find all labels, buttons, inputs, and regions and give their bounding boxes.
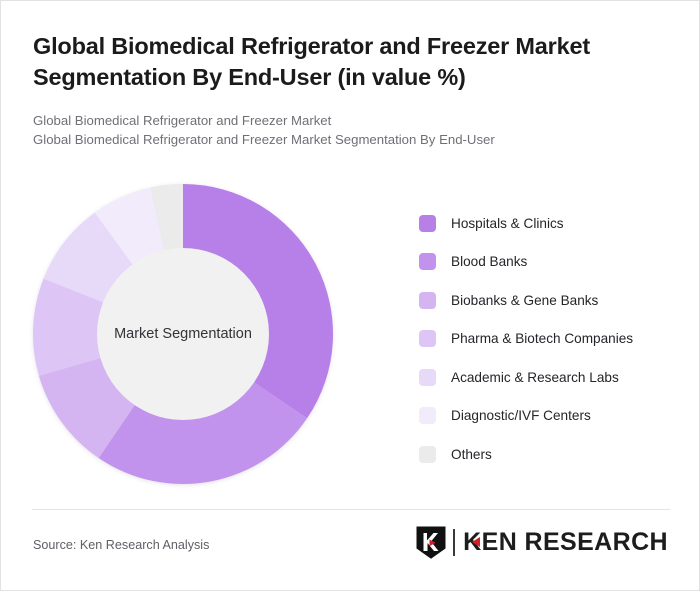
source-note: Source: Ken Research Analysis xyxy=(33,538,209,552)
chart-card: Global Biomedical Refrigerator and Freez… xyxy=(0,0,700,591)
legend-color-swatch xyxy=(419,215,436,232)
brand-wordmark: K EN RESEARCH xyxy=(463,528,668,557)
brand-logo: K EN RESEARCH xyxy=(416,525,668,559)
chart-header: Global Biomedical Refrigerator and Freez… xyxy=(33,31,663,149)
legend-item[interactable]: Hospitals & Clinics xyxy=(419,204,679,243)
legend-color-swatch xyxy=(419,253,436,270)
legend-item[interactable]: Pharma & Biotech Companies xyxy=(419,320,679,359)
footer-divider xyxy=(32,509,670,510)
brand-wordmark-k: K xyxy=(463,528,481,557)
legend-item-label: Hospitals & Clinics xyxy=(451,216,564,231)
donut-inner-disc xyxy=(97,248,269,420)
donut-chart: Market Segmentation xyxy=(33,184,333,484)
legend-item[interactable]: Biobanks & Gene Banks xyxy=(419,281,679,320)
legend-item-label: Others xyxy=(451,447,492,462)
legend-color-swatch xyxy=(419,369,436,386)
brand-separator xyxy=(453,529,455,556)
page-title: Global Biomedical Refrigerator and Freez… xyxy=(33,31,663,93)
legend-color-swatch xyxy=(419,446,436,463)
donut-svg xyxy=(33,184,333,484)
legend-item-label: Blood Banks xyxy=(451,254,527,269)
legend-item[interactable]: Blood Banks xyxy=(419,243,679,282)
legend-color-swatch xyxy=(419,330,436,347)
brand-red-triangle-icon xyxy=(472,537,480,547)
ken-research-shield-icon xyxy=(416,526,446,559)
legend-item[interactable]: Others xyxy=(419,435,679,474)
chart-area: Market Segmentation Hospitals & ClinicsB… xyxy=(1,166,700,501)
chart-legend: Hospitals & ClinicsBlood BanksBiobanks &… xyxy=(419,204,679,474)
legend-color-swatch xyxy=(419,292,436,309)
legend-color-swatch xyxy=(419,407,436,424)
legend-item[interactable]: Academic & Research Labs xyxy=(419,358,679,397)
legend-item[interactable]: Diagnostic/IVF Centers xyxy=(419,397,679,436)
subtitle-line-2: Global Biomedical Refrigerator and Freez… xyxy=(33,130,663,149)
legend-item-label: Biobanks & Gene Banks xyxy=(451,293,598,308)
subtitle-line-1: Global Biomedical Refrigerator and Freez… xyxy=(33,111,663,130)
brand-wordmark-rest: EN RESEARCH xyxy=(482,528,668,557)
legend-item-label: Academic & Research Labs xyxy=(451,370,619,385)
subtitle-group: Global Biomedical Refrigerator and Freez… xyxy=(33,111,663,149)
legend-item-label: Pharma & Biotech Companies xyxy=(451,331,633,346)
legend-item-label: Diagnostic/IVF Centers xyxy=(451,408,591,423)
